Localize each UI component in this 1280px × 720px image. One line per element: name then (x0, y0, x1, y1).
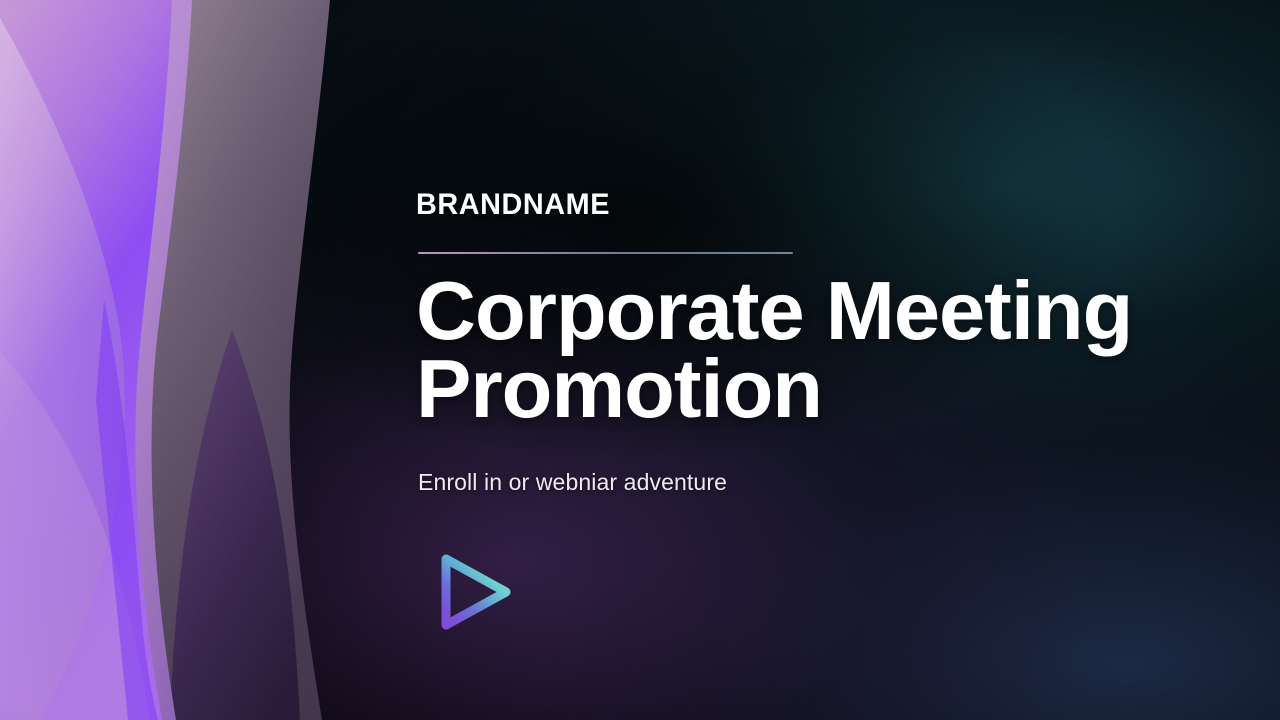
brand-name: BRANDNAME (416, 190, 610, 220)
page-title: Corporate Meeting Promotion (416, 272, 1196, 428)
left-decorative-ribbons (0, 0, 400, 720)
presentation-slide: BRANDNAME Corporate Meeting Promotion En… (0, 0, 1280, 720)
title-divider (418, 252, 793, 254)
play-triangle-outline-icon[interactable] (430, 546, 522, 638)
page-title-line-1: Corporate Meeting (416, 272, 1196, 350)
slide-content: BRANDNAME Corporate Meeting Promotion En… (416, 0, 1196, 720)
page-subtitle: Enroll in or webniar adventure (418, 468, 727, 497)
page-title-line-2: Promotion (416, 350, 1196, 428)
